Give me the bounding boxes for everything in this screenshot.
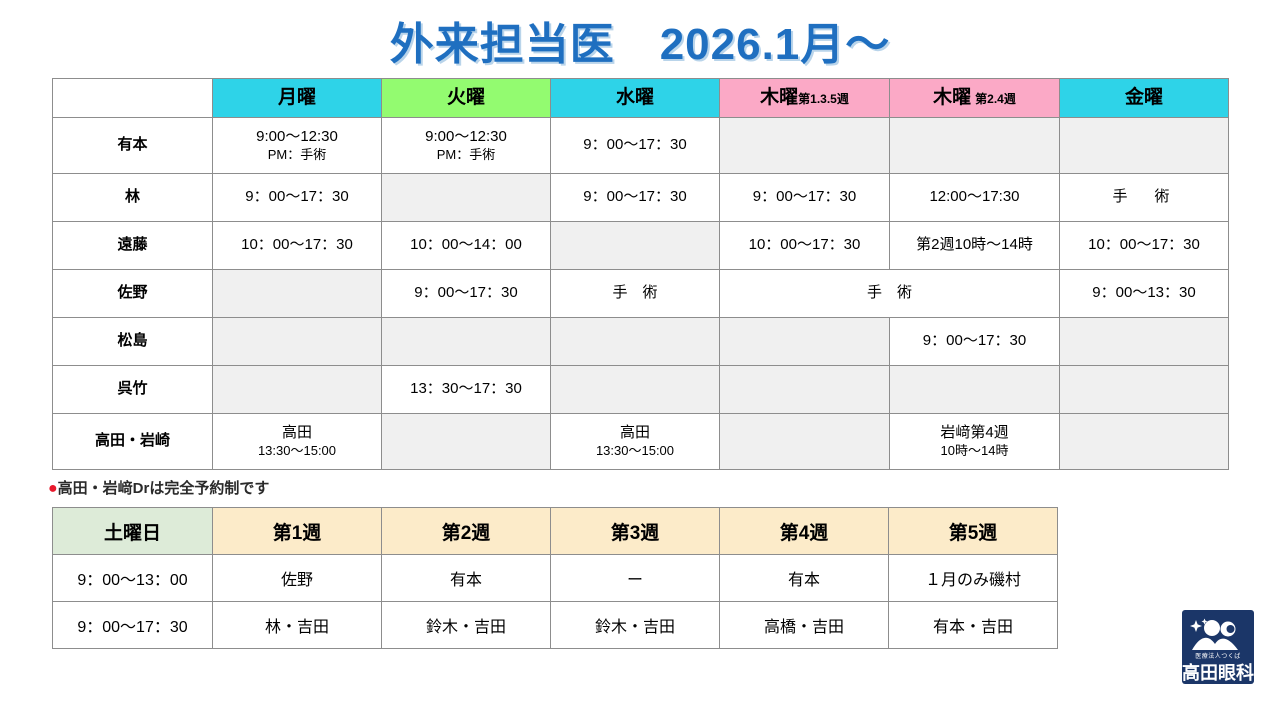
header-wednesday: 水曜 (551, 79, 720, 118)
cell-hayashi-wed: 9：00〜17：30 (551, 174, 720, 222)
header-week-4: 第4週 (720, 508, 889, 555)
sat-w3-morning: ー (551, 555, 720, 602)
header-monday: 月曜 (213, 79, 382, 118)
cell-hayashi-mon: 9：00〜17：30 (213, 174, 382, 222)
cell-text: 高田 (620, 424, 650, 441)
cell-text: 岩﨑第4週 (940, 424, 1008, 441)
row-label-endo: 遠藤 (53, 222, 213, 270)
cell-hayashi-tue (382, 174, 551, 222)
cell-arimoto-thu2 (890, 118, 1060, 174)
row-label-matsushima: 松島 (53, 318, 213, 366)
cell-matsushima-wed (551, 318, 720, 366)
cell-arimoto-tue: 9:00〜12:30 PM：手術 (382, 118, 551, 174)
cell-matsushima-thu1 (720, 318, 890, 366)
header-week-5: 第5週 (889, 508, 1058, 555)
cell-text: 9:00〜12:30 (425, 128, 507, 145)
cell-text: 9:00〜12:30 (256, 128, 338, 145)
page-title: 外来担当医 2026.1月〜 (0, 8, 1280, 72)
cell-arimoto-mon: 9:00〜12:30 PM：手術 (213, 118, 382, 174)
sat-w2-morning: 有本 (382, 555, 551, 602)
weekday-schedule-table: 月曜 火曜 水曜 木曜第1.3.5週 木曜第2.4週 金曜 有本 9:00〜12… (52, 78, 1229, 470)
header-blank (53, 79, 213, 118)
bullet-icon: ● (48, 480, 58, 497)
cell-sano-fri: 9：00〜13：30 (1060, 270, 1229, 318)
cell-kuretake-thu1 (720, 366, 890, 414)
header-thursday2-week-note: 第2.4週 (975, 92, 1016, 106)
saturday-header-row: 土曜日 第1週 第2週 第3週 第4週 第5週 (53, 508, 1058, 555)
header-thursday-main: 木曜 (760, 87, 798, 108)
mountain-eyes-icon (1182, 614, 1254, 654)
table-row: 高田・岩崎 高田 13:30〜15:00 高田 13:30〜15:00 岩﨑第4… (53, 414, 1229, 470)
cell-takada-wed: 高田 13:30〜15:00 (551, 414, 720, 470)
header-week-3: 第3週 (551, 508, 720, 555)
cell-subtext: PM：手術 (213, 147, 381, 163)
cell-text: 高田 (282, 424, 312, 441)
cell-takada-fri (1060, 414, 1229, 470)
cell-subtext: 13:30〜15:00 (213, 443, 381, 459)
table-row: 松島 9：00〜17：30 (53, 318, 1229, 366)
cell-kuretake-thu2 (890, 366, 1060, 414)
cell-hayashi-thu1: 9：00〜17：30 (720, 174, 890, 222)
row-label-kuretake: 呉竹 (53, 366, 213, 414)
cell-endo-fri: 10：00〜17：30 (1060, 222, 1229, 270)
cell-endo-thu2: 第2週10時〜14時 (890, 222, 1060, 270)
row-label-sano: 佐野 (53, 270, 213, 318)
cell-iwasaki-thu2: 岩﨑第4週 10時〜14時 (890, 414, 1060, 470)
table-row: 林 9：00〜17：30 9：00〜17：30 9：00〜17：30 12:00… (53, 174, 1229, 222)
reservation-note-text: 高田・岩﨑Drは完全予約制です (58, 480, 270, 497)
row-label-hayashi: 林 (53, 174, 213, 222)
cell-endo-thu1: 10：00〜17：30 (720, 222, 890, 270)
sat-w5-fullday: 有本・吉田 (889, 602, 1058, 649)
header-thursday-week135: 木曜第1.3.5週 (720, 79, 890, 118)
cell-sano-mon (213, 270, 382, 318)
cell-endo-wed (551, 222, 720, 270)
header-thursday-week-note: 第1.3.5週 (798, 92, 849, 106)
sat-w3-fullday: 鈴木・吉田 (551, 602, 720, 649)
saturday-schedule-table: 土曜日 第1週 第2週 第3週 第4週 第5週 9：00〜13：00 佐野 有本… (52, 507, 1058, 649)
saturday-time-fullday: 9：00〜17：30 (53, 602, 213, 649)
header-week-1: 第1週 (213, 508, 382, 555)
reservation-note: ●高田・岩﨑Drは完全予約制です (48, 477, 269, 498)
sat-w1-morning: 佐野 (213, 555, 382, 602)
table-row: 佐野 9：00〜17：30 手 術 手 術 9：00〜13：30 (53, 270, 1229, 318)
sat-w4-morning: 有本 (720, 555, 889, 602)
sat-w1-fullday: 林・吉田 (213, 602, 382, 649)
cell-matsushima-fri (1060, 318, 1229, 366)
table-row: 9：00〜17：30 林・吉田 鈴木・吉田 鈴木・吉田 高橋・吉田 有本・吉田 (53, 602, 1058, 649)
cell-arimoto-fri (1060, 118, 1229, 174)
table-row: 有本 9:00〜12:30 PM：手術 9:00〜12:30 PM：手術 9：0… (53, 118, 1229, 174)
table-header-row: 月曜 火曜 水曜 木曜第1.3.5週 木曜第2.4週 金曜 (53, 79, 1229, 118)
header-week-2: 第2週 (382, 508, 551, 555)
cell-endo-tue: 10：00〜14：00 (382, 222, 551, 270)
cell-takada-thu1 (720, 414, 890, 470)
cell-arimoto-wed: 9：00〜17：30 (551, 118, 720, 174)
cell-takada-mon: 高田 13:30〜15:00 (213, 414, 382, 470)
cell-hayashi-thu2: 12:00〜17:30 (890, 174, 1060, 222)
cell-kuretake-wed (551, 366, 720, 414)
sat-w4-fullday: 高橋・吉田 (720, 602, 889, 649)
cell-kuretake-mon (213, 366, 382, 414)
saturday-time-morning: 9：00〜13：00 (53, 555, 213, 602)
clinic-logo: 医療法人つくば 高田眼科 (1182, 610, 1254, 684)
cell-subtext: 13:30〜15:00 (551, 443, 719, 459)
cell-subtext: 10時〜14時 (890, 443, 1059, 459)
cell-kuretake-fri (1060, 366, 1229, 414)
header-saturday: 土曜日 (53, 508, 213, 555)
cell-matsushima-mon (213, 318, 382, 366)
header-thursday-week24: 木曜第2.4週 (890, 79, 1060, 118)
cell-sano-tue: 9：00〜17：30 (382, 270, 551, 318)
table-row: 9：00〜13：00 佐野 有本 ー 有本 １月のみ磯村 (53, 555, 1058, 602)
row-label-takada-iwasaki: 高田・岩崎 (53, 414, 213, 470)
sat-w5-morning: １月のみ磯村 (889, 555, 1058, 602)
cell-hayashi-fri: 手 術 (1060, 174, 1229, 222)
cell-matsushima-tue (382, 318, 551, 366)
row-label-arimoto: 有本 (53, 118, 213, 174)
cell-endo-mon: 10：00〜17：30 (213, 222, 382, 270)
header-tuesday: 火曜 (382, 79, 551, 118)
cell-arimoto-thu1 (720, 118, 890, 174)
header-thursday2-main: 木曜 (933, 87, 971, 108)
table-row: 呉竹 13：30〜17：30 (53, 366, 1229, 414)
cell-sano-thu-merged: 手 術 (720, 270, 1060, 318)
cell-takada-tue (382, 414, 551, 470)
cell-sano-wed: 手 術 (551, 270, 720, 318)
cell-subtext: PM：手術 (382, 147, 550, 163)
table-row: 遠藤 10：00〜17：30 10：00〜14：00 10：00〜17：30 第… (53, 222, 1229, 270)
logo-clinic-name: 高田眼科 (1182, 659, 1254, 684)
cell-kuretake-tue: 13：30〜17：30 (382, 366, 551, 414)
cell-matsushima-thu2: 9：00〜17：30 (890, 318, 1060, 366)
header-friday: 金曜 (1060, 79, 1229, 118)
sat-w2-fullday: 鈴木・吉田 (382, 602, 551, 649)
